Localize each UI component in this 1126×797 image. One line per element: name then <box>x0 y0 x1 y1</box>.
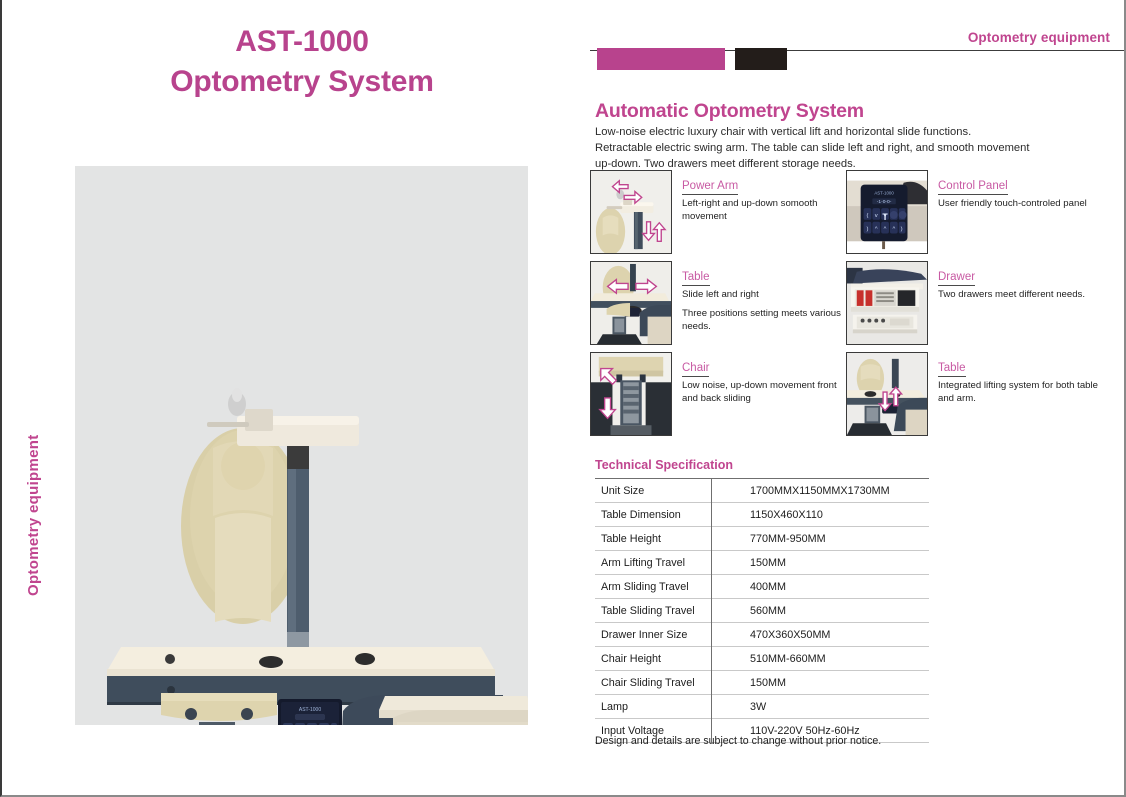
feature-row: Table Slide left and right Three positio… <box>590 261 1118 352</box>
feature-description: Low noise, up-down movement front and ba… <box>682 380 844 406</box>
table-row: Chair Sliding Travel 150MM <box>595 671 929 695</box>
spec-key: Unit Size <box>595 479 712 503</box>
spec-value: 770MM-950MM <box>712 527 930 551</box>
spec-value: 3W <box>712 695 930 719</box>
svg-text:): ) <box>901 227 903 233</box>
feature-text: Drawer Two drawers meet different needs. <box>938 267 1100 302</box>
feature-text: Power Arm Left-right and up-down somooth… <box>682 176 844 224</box>
chair-photo-icon <box>590 352 672 436</box>
feature-title: Drawer <box>938 271 975 286</box>
spec-key: Table Height <box>595 527 712 551</box>
header-eyebrow: Optometry equipment <box>968 30 1110 45</box>
spec-value: 1150X460X110 <box>712 503 930 527</box>
spec-value: 150MM <box>712 671 930 695</box>
svg-text:^: ^ <box>884 227 887 233</box>
feature-text: Control Panel User friendly touch-contro… <box>938 176 1100 211</box>
spec-disclaimer: Design and details are subject to change… <box>595 735 881 747</box>
feature-desc-line: Two drawers meet different needs. <box>938 289 1100 302</box>
feature-title: Chair <box>682 362 709 377</box>
table-lift-photo-icon <box>846 352 928 436</box>
table-row: Table Sliding Travel 560MM <box>595 599 929 623</box>
feature-card-control-panel: AST-1000 -1-0-0- <box>846 170 1102 258</box>
feature-description: User friendly touch-controled panel <box>938 198 1100 211</box>
table-row: Table Dimension 1150X460X110 <box>595 503 929 527</box>
feature-card-drawer: Drawer Two drawers meet different needs. <box>846 261 1102 349</box>
feature-description: Two drawers meet different needs. <box>938 289 1100 302</box>
feature-desc-line: Integrated lifting system for both table… <box>938 380 1100 406</box>
feature-text: Chair Low noise, up-down movement front … <box>682 358 844 406</box>
svg-text:AST-1000: AST-1000 <box>299 707 321 713</box>
left-panel: AST-1000 Optometry System <box>2 0 580 793</box>
svg-text:-1-0-0-: -1-0-0- <box>877 199 892 205</box>
feature-title: Control Panel <box>938 180 1008 195</box>
spec-heading: Technical Specification <box>595 458 733 472</box>
color-swatch-magenta <box>597 48 725 70</box>
drawer-photo-icon <box>846 261 928 345</box>
right-panel: Optometry equipment Automatic Optometry … <box>580 0 1126 793</box>
table-row: Table Height 770MM-950MM <box>595 527 929 551</box>
feature-desc-line: Left-right and up-down somooth movement <box>682 198 844 224</box>
table-row: Chair Height 510MM-660MM <box>595 647 929 671</box>
svg-text:AST-1000: AST-1000 <box>874 190 894 195</box>
table-row: Unit Size 1700MMX1150MMX1730MM <box>595 479 929 503</box>
product-name: Optometry System <box>62 62 542 102</box>
spec-value: 150MM <box>712 551 930 575</box>
section-heading: Automatic Optometry System <box>595 100 864 123</box>
product-model: AST-1000 <box>235 25 368 58</box>
feature-desc-line: Low noise, up-down movement front and ba… <box>682 380 844 406</box>
feature-title: Table <box>938 362 966 377</box>
feature-card-table-slide: Table Slide left and right Three positio… <box>590 261 846 349</box>
feature-desc-line: Slide left and right <box>682 289 844 302</box>
table-row: Lamp 3W <box>595 695 929 719</box>
feature-card-chair: Chair Low noise, up-down movement front … <box>590 352 846 440</box>
table-slide-photo-icon <box>590 261 672 345</box>
spec-key: Table Sliding Travel <box>595 599 712 623</box>
feature-description: Slide left and right Three positions set… <box>682 289 844 333</box>
brochure-page: AST-1000 Optometry System <box>0 0 1126 797</box>
feature-card-table-lift: Table Integrated lifting system for both… <box>846 352 1102 440</box>
spec-key: Drawer Inner Size <box>595 623 712 647</box>
spec-key: Chair Height <box>595 647 712 671</box>
overview-description: Low-noise electric luxury chair with ver… <box>595 125 1075 173</box>
feature-description: Left-right and up-down somooth movement <box>682 198 844 224</box>
svg-text:): ) <box>867 227 869 233</box>
product-hero-illustration: AST-1000 T <box>75 166 528 725</box>
page-title: AST-1000 Optometry System <box>62 22 542 101</box>
spec-key: Arm Sliding Travel <box>595 575 712 599</box>
feature-desc-line: User friendly touch-controled panel <box>938 198 1100 211</box>
spec-value: 560MM <box>712 599 930 623</box>
power-arm-photo-icon <box>590 170 672 254</box>
spec-key: Table Dimension <box>595 503 712 527</box>
feature-card-power-arm: Power Arm Left-right and up-down somooth… <box>590 170 846 258</box>
feature-title: Table <box>682 271 710 286</box>
feature-text: Table Slide left and right Three positio… <box>682 267 844 333</box>
svg-text:^: ^ <box>875 227 878 233</box>
svg-text:T: T <box>882 212 888 222</box>
svg-text:^: ^ <box>892 227 895 233</box>
technical-specification-table: Unit Size 1700MMX1150MMX1730MM Table Dim… <box>595 478 929 743</box>
table-row: Arm Sliding Travel 400MM <box>595 575 929 599</box>
feature-desc-line: Three positions setting meets various ne… <box>682 308 844 334</box>
table-row: Arm Lifting Travel 150MM <box>595 551 929 575</box>
spec-key: Chair Sliding Travel <box>595 671 712 695</box>
svg-text:(: ( <box>867 213 869 219</box>
feature-grid: Power Arm Left-right and up-down somooth… <box>590 170 1118 443</box>
control-panel-photo-icon: AST-1000 -1-0-0- <box>846 170 928 254</box>
overview-line-1: Low-noise electric luxury chair with ver… <box>595 125 1075 141</box>
table-row: Drawer Inner Size 470X360X50MM <box>595 623 929 647</box>
feature-title: Power Arm <box>682 180 738 195</box>
spec-value: 510MM-660MM <box>712 647 930 671</box>
spec-value: 400MM <box>712 575 930 599</box>
spec-key: Lamp <box>595 695 712 719</box>
spec-key: Arm Lifting Travel <box>595 551 712 575</box>
feature-row: Power Arm Left-right and up-down somooth… <box>590 170 1118 261</box>
product-hero-image: AST-1000 T <box>75 166 528 725</box>
spec-table-body: Unit Size 1700MMX1150MMX1730MM Table Dim… <box>595 479 929 743</box>
overview-line-2: Retractable electric swing arm. The tabl… <box>595 141 1075 157</box>
feature-text: Table Integrated lifting system for both… <box>938 358 1100 406</box>
sidebar-vertical-label: Optometry equipment <box>25 396 42 596</box>
color-swatch-dark <box>735 48 787 70</box>
feature-description: Integrated lifting system for both table… <box>938 380 1100 406</box>
svg-text:v: v <box>875 213 878 219</box>
feature-row: Chair Low noise, up-down movement front … <box>590 352 1118 443</box>
spec-value: 1700MMX1150MMX1730MM <box>712 479 930 503</box>
spec-value: 470X360X50MM <box>712 623 930 647</box>
